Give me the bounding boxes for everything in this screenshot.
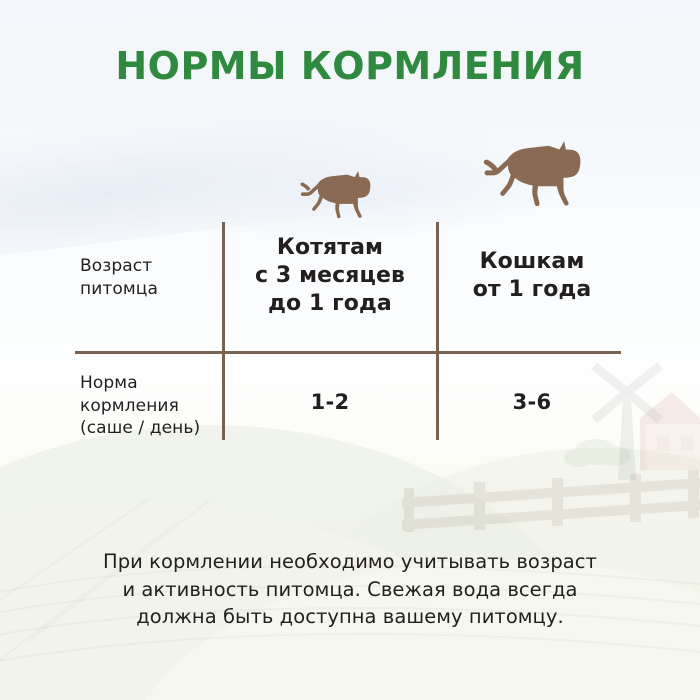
- footnote-text: При кормлении необходимо учитывать возра…: [62, 548, 638, 631]
- column-header-adult-line2: от 1 года: [442, 276, 622, 304]
- row-header-norm-line2: кормления: [80, 395, 225, 418]
- row-header-norm: Норма кормления (саше / день): [80, 372, 225, 440]
- footnote-line3: должна быть доступна вашему питомцу.: [62, 603, 638, 631]
- row-header-age: Возраст питомца: [80, 255, 210, 300]
- table-row-divider: [75, 351, 621, 354]
- cell-adult-portion: 3-6: [442, 390, 622, 414]
- column-header-kitten-line1: Котятам: [228, 234, 432, 262]
- windmill-icon: [594, 366, 660, 480]
- feeding-guide-infographic: НОРМЫ КОРМЛЕНИЯ Возраст питомца Котятам …: [0, 0, 700, 700]
- footnote-line2: и активность питомца. Свежая вода всегда: [62, 576, 638, 604]
- row-header-norm-line3: (саше / день): [80, 417, 225, 440]
- column-header-kitten: Котятам с 3 месяцев до 1 года: [228, 234, 432, 318]
- cat-kitten-icon: [297, 168, 371, 224]
- column-header-kitten-line3: до 1 года: [228, 290, 432, 318]
- cat-adult-icon: [479, 140, 583, 222]
- column-header-kitten-line2: с 3 месяцев: [228, 262, 432, 290]
- bushes-icon: [564, 439, 631, 467]
- row-header-norm-line1: Норма: [80, 372, 225, 395]
- cell-kitten-portion: 1-2: [228, 390, 432, 414]
- page-title: НОРМЫ КОРМЛЕНИЯ: [0, 44, 700, 88]
- farmhouse-icon: [640, 392, 700, 470]
- fence-icon: [402, 470, 700, 532]
- row-header-age-line2: питомца: [80, 278, 210, 301]
- footnote-line1: При кормлении необходимо учитывать возра…: [62, 548, 638, 576]
- row-header-age-line1: Возраст: [80, 255, 210, 278]
- column-header-adult-line1: Кошкам: [442, 248, 622, 276]
- column-header-adult: Кошкам от 1 года: [442, 248, 622, 304]
- table-column-divider-2: [436, 222, 439, 440]
